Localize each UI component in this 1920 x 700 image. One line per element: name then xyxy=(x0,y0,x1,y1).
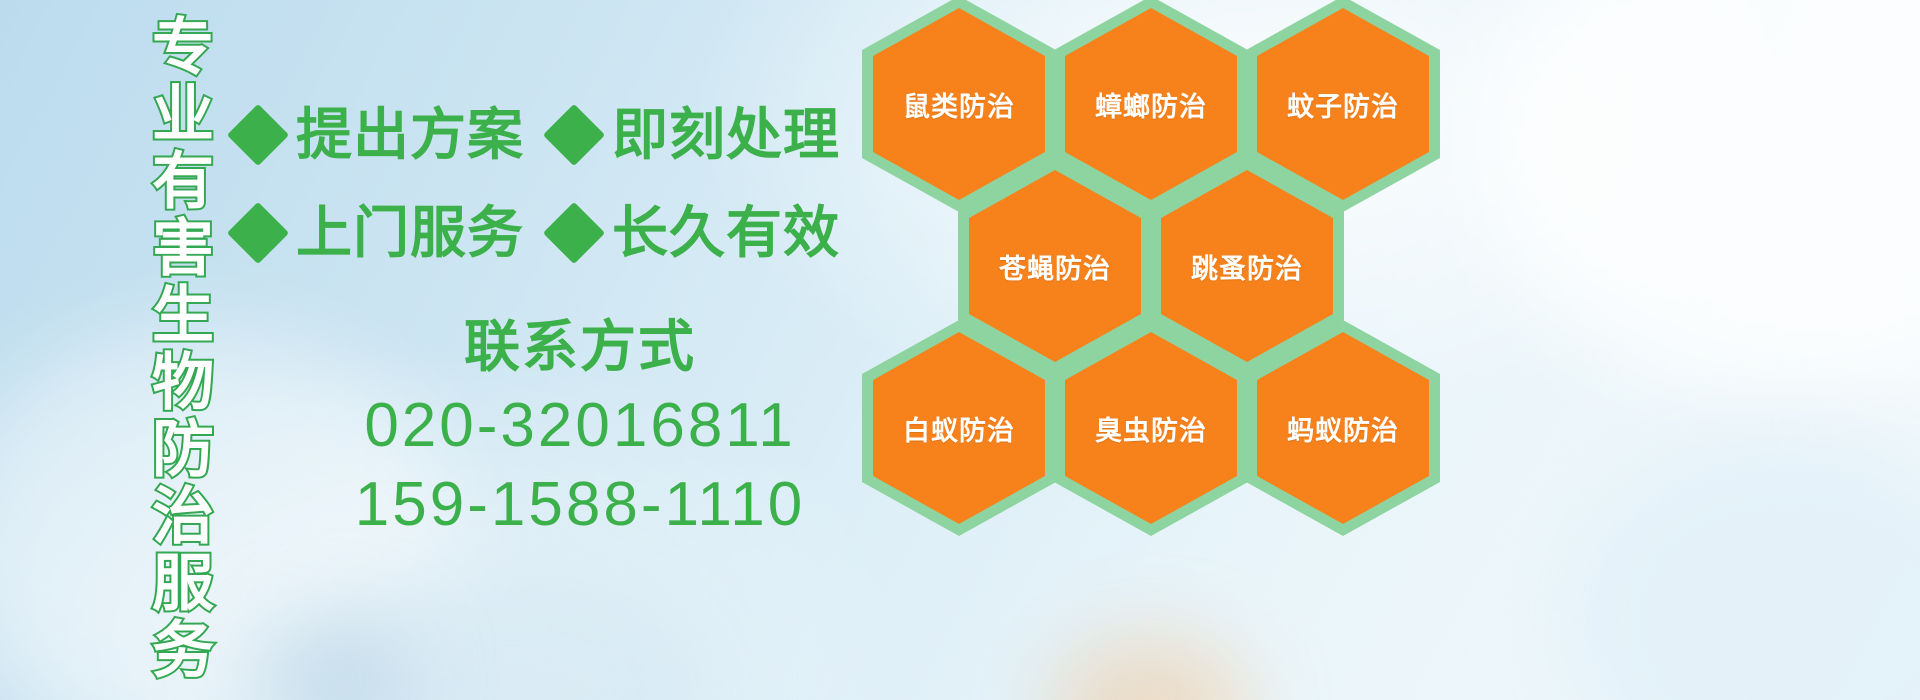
hex-inner: 鼠类防治 xyxy=(873,8,1045,200)
feature-item-long-lasting-effect: 长久有效 xyxy=(552,205,840,261)
phone-landline[interactable]: 020-32016811 xyxy=(300,386,860,465)
hex-inner: 白蚁防治 xyxy=(873,332,1045,524)
background-blur-shape xyxy=(300,560,720,700)
feature-item-door-to-door-service: 上门服务 xyxy=(236,205,524,261)
diamond-icon xyxy=(227,104,289,166)
feature-item-immediate-handling: 即刻处理 xyxy=(552,107,840,163)
hex-inner: 跳蚤防治 xyxy=(1161,170,1333,362)
feature-label: 提出方案 xyxy=(296,107,524,163)
service-label: 臭虫防治 xyxy=(1095,409,1207,448)
service-label: 蚊子防治 xyxy=(1287,85,1399,124)
background-blur-shape xyxy=(1560,430,1920,700)
contact-title: 联系方式 xyxy=(300,316,860,378)
service-label: 鼠类防治 xyxy=(903,85,1015,124)
service-label: 苍蝇防治 xyxy=(999,247,1111,286)
feature-label: 即刻处理 xyxy=(612,107,840,163)
service-label: 蚂蚁防治 xyxy=(1287,409,1399,448)
hex-inner: 蟑螂防治 xyxy=(1065,8,1237,200)
service-label: 跳蚤防治 xyxy=(1191,247,1303,286)
hex-inner: 蚂蚁防治 xyxy=(1257,332,1429,524)
phone-mobile[interactable]: 159-1588-1110 xyxy=(300,465,860,544)
contact-block: 联系方式 020-32016811 159-1588-1110 xyxy=(300,316,860,544)
diamond-icon xyxy=(227,202,289,264)
promo-banner: 专业有害生物防治服务 提出方案 即刻处理 上门服务 长久有效 联系方式 0 xyxy=(0,0,1920,700)
service-label: 蟑螂防治 xyxy=(1095,85,1207,124)
feature-label: 长久有效 xyxy=(612,205,840,261)
feature-list: 提出方案 即刻处理 上门服务 长久有效 xyxy=(236,86,876,282)
feature-label: 上门服务 xyxy=(296,205,524,261)
service-honeycomb: 鼠类防治 蟑螂防治 蚊子防治 苍蝇防治 跳蚤防治 白蚁防治 xyxy=(856,0,1456,700)
service-label: 白蚁防治 xyxy=(903,409,1015,448)
background-blur-shape xyxy=(1480,0,1920,400)
feature-row: 提出方案 即刻处理 xyxy=(236,86,876,184)
background-blur-shape xyxy=(250,620,410,700)
hex-inner: 臭虫防治 xyxy=(1065,332,1237,524)
diamond-icon xyxy=(543,202,605,264)
feature-row: 上门服务 长久有效 xyxy=(236,184,876,282)
feature-item-propose-plan: 提出方案 xyxy=(236,107,524,163)
diamond-icon xyxy=(543,104,605,166)
hex-inner: 苍蝇防治 xyxy=(969,170,1141,362)
vertical-headline: 专业有害生物防治服务 xyxy=(112,14,208,684)
hex-inner: 蚊子防治 xyxy=(1257,8,1429,200)
